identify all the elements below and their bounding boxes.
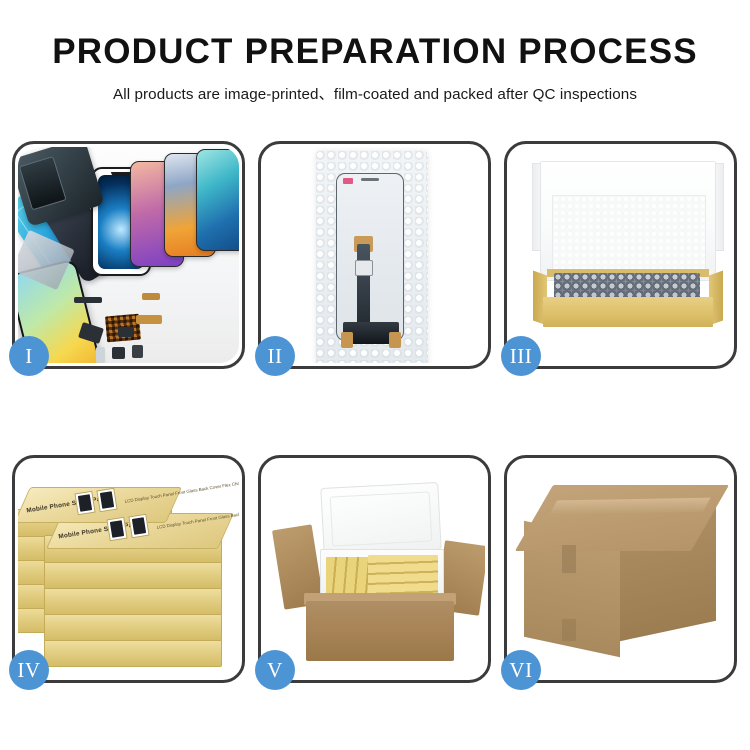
step-4-photo: Mobile Phone Spare Parts LCD Display Tou… bbox=[18, 461, 239, 677]
step-3-photo bbox=[510, 147, 731, 363]
retail-box bbox=[44, 613, 222, 641]
packing-tape-strip bbox=[549, 498, 710, 515]
step-badge-5: V bbox=[255, 650, 295, 690]
earpiece-mesh-part bbox=[74, 297, 102, 303]
kraft-tray-front bbox=[543, 297, 713, 327]
vibrator-part bbox=[132, 345, 143, 358]
step-1-photo bbox=[18, 147, 239, 363]
retail-box-window bbox=[74, 491, 95, 516]
white-foam-sheet bbox=[552, 195, 706, 275]
retail-box-window bbox=[128, 514, 149, 539]
lcd-gold-contact-right bbox=[389, 332, 401, 348]
retail-box bbox=[44, 639, 222, 667]
step-2-photo bbox=[264, 147, 485, 363]
process-step-grid: I II bbox=[12, 141, 738, 683]
process-step-4[interactable]: Mobile Phone Spare Parts LCD Display Tou… bbox=[12, 455, 245, 683]
styrofoam-lid bbox=[320, 482, 441, 556]
process-step-6[interactable]: VI bbox=[504, 455, 737, 683]
retail-box-window bbox=[96, 488, 117, 513]
step-badge-6: VI bbox=[501, 650, 541, 690]
charging-port-part bbox=[136, 315, 162, 324]
camera-module-part bbox=[112, 347, 125, 359]
process-step-3[interactable]: III bbox=[504, 141, 737, 369]
process-step-5[interactable]: V bbox=[258, 455, 491, 683]
process-step-2[interactable]: II bbox=[258, 141, 491, 369]
qc-pink-label bbox=[343, 178, 353, 184]
gold-flex-part bbox=[142, 293, 160, 300]
bubble-wrap-bag bbox=[316, 151, 428, 363]
lcd-assembly bbox=[336, 173, 404, 341]
step-badge-3: III bbox=[501, 336, 541, 376]
page-title: PRODUCT PREPARATION PROCESS bbox=[0, 34, 750, 71]
phone-teal-display bbox=[196, 149, 239, 251]
step-badge-4: IV bbox=[9, 650, 49, 690]
button-flex-part bbox=[118, 327, 134, 337]
page-subtitle: All products are image-printed、film-coat… bbox=[0, 82, 750, 104]
lcd-gold-contact-left bbox=[341, 332, 353, 348]
step-badge-1: I bbox=[9, 336, 49, 376]
lcd-earpiece-notch bbox=[361, 178, 379, 181]
retail-box-stack: Mobile Phone Spare Parts LCD Display Tou… bbox=[18, 483, 239, 673]
carton-body bbox=[306, 601, 454, 661]
retail-box-window bbox=[106, 517, 127, 542]
page-header: PRODUCT PREPARATION PROCESS All products… bbox=[0, 0, 750, 104]
carton-seam-upper bbox=[562, 545, 576, 573]
process-step-1[interactable]: I bbox=[12, 141, 245, 369]
step-5-photo bbox=[264, 461, 485, 677]
step-badge-2: II bbox=[255, 336, 295, 376]
retail-box bbox=[44, 561, 222, 589]
sim-tray-part bbox=[96, 347, 105, 363]
retail-box bbox=[44, 587, 222, 615]
carton-seam-lower bbox=[562, 619, 576, 641]
step-6-photo bbox=[510, 461, 731, 677]
lcd-driver-chip bbox=[355, 260, 373, 276]
